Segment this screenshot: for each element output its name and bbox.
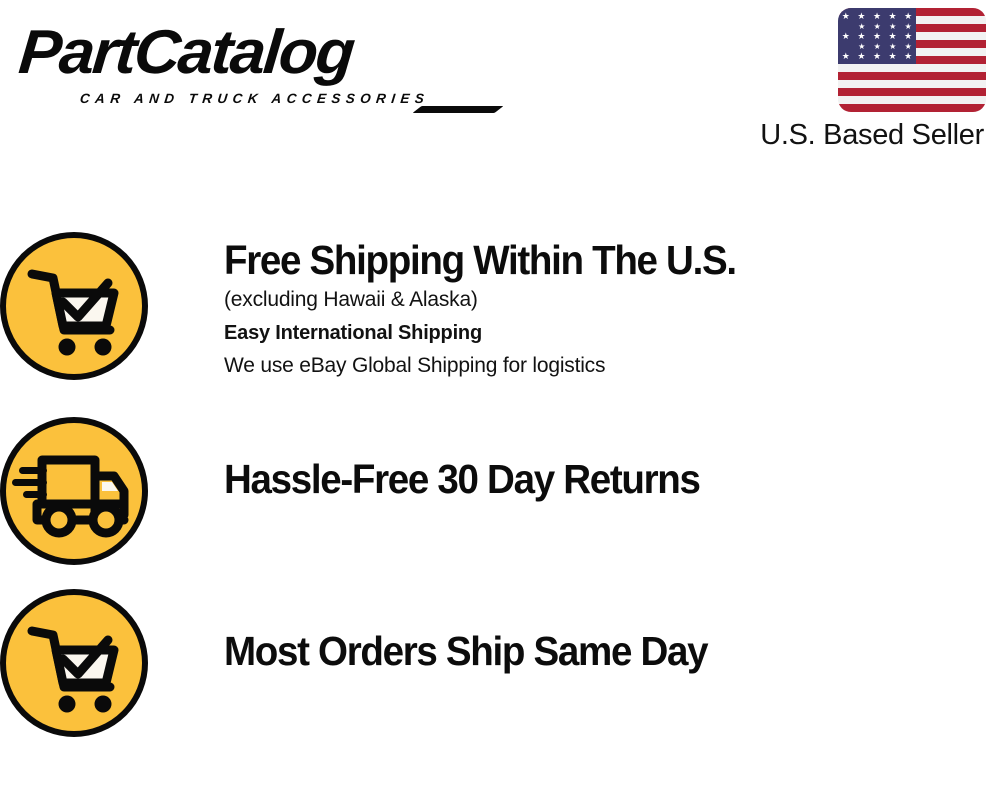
shopping-cart-check-icon [0, 232, 148, 380]
brand-swoosh-icon [413, 106, 504, 113]
delivery-truck-icon [0, 417, 148, 565]
brand-tagline-wrap: CAR AND TRUCK ACCESSORIES [80, 91, 490, 106]
shopping-cart-check-icon [0, 589, 148, 737]
page-header: PartCatalog CAR AND TRUCK ACCESSORIES [0, 0, 1000, 170]
us-flag-icon: ★★★★★ ★★★★ ★★★★★ ★★★★ ★★★★★ [838, 8, 986, 112]
feature-copy: Hassle-Free 30 Day Returns [148, 417, 730, 503]
feature-row: Hassle-Free 30 Day Returns [0, 417, 730, 565]
feature-icon-badge [0, 232, 148, 380]
feature-subtitle: (excluding Hawaii & Alaska) [224, 284, 768, 316]
feature-subtitle: We use eBay Global Shipping for logistic… [224, 350, 768, 382]
seller-label: U.S. Based Seller [716, 119, 984, 152]
feature-title: Free Shipping Within The U.S. [224, 236, 736, 284]
feature-copy: Free Shipping Within The U.S. (excluding… [148, 232, 768, 382]
feature-icon-badge [0, 589, 148, 737]
brand-name: PartCatalog [16, 22, 506, 84]
brand-logo[interactable]: PartCatalog CAR AND TRUCK ACCESSORIES [22, 22, 492, 122]
feature-copy: Most Orders Ship Same Day [148, 589, 738, 675]
truck-glyph [6, 423, 142, 559]
feature-subtitle-bold: Easy International Shipping [224, 316, 768, 350]
feature-title: Hassle-Free 30 Day Returns [224, 455, 700, 503]
feature-row: Free Shipping Within The U.S. (excluding… [0, 232, 768, 382]
feature-title: Most Orders Ship Same Day [224, 627, 707, 675]
brand-tagline: CAR AND TRUCK ACCESSORIES [79, 91, 430, 106]
flag-canton: ★★★★★ ★★★★ ★★★★★ ★★★★ ★★★★★ [838, 8, 916, 64]
cart-check-glyph [6, 238, 142, 374]
feature-icon-badge [0, 417, 148, 565]
feature-row: Most Orders Ship Same Day [0, 589, 738, 737]
seller-badge: ★★★★★ ★★★★ ★★★★★ ★★★★ ★★★★★ U.S. Based S… [716, 8, 986, 152]
cart-check-glyph [6, 595, 142, 731]
